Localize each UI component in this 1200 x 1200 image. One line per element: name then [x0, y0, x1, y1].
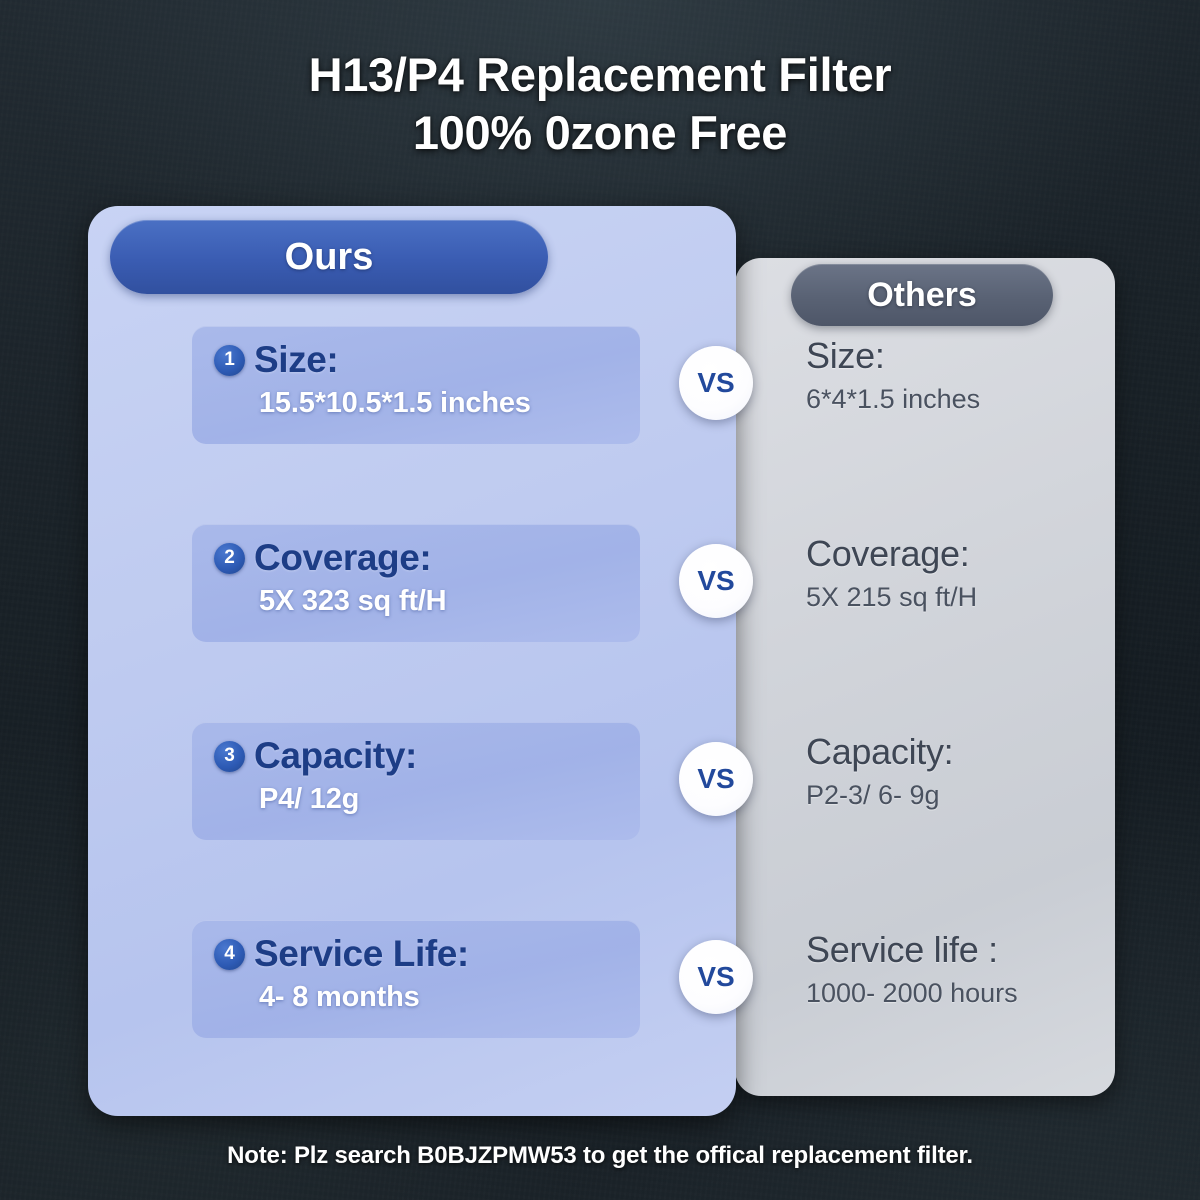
others-value: 6*4*1.5 inches — [806, 381, 1106, 417]
ours-value: 5X 323 sq ft/H — [259, 585, 640, 618]
vs-badge-icon: VS — [679, 940, 753, 1014]
others-value: P2-3/ 6- 9g — [806, 777, 1106, 813]
comparison-row: 1 Size: 15.5*10.5*1.5 inches VS Size: 6*… — [0, 326, 1200, 444]
others-label: Capacity: — [806, 730, 1106, 774]
others-value: 1000- 2000 hours — [806, 975, 1106, 1011]
ours-value: 15.5*10.5*1.5 inches — [259, 387, 640, 420]
ours-cell: 4 Service Life: 4- 8 months — [192, 920, 640, 1038]
ours-value: P4/ 12g — [259, 783, 640, 816]
ours-header-pill: Ours — [110, 220, 548, 294]
ours-label: Capacity: — [254, 735, 417, 777]
title-line-1: H13/P4 Replacement Filter — [0, 46, 1200, 104]
others-cell: Size: 6*4*1.5 inches — [806, 326, 1106, 417]
others-header-pill: Others — [791, 264, 1053, 326]
vs-badge-icon: VS — [679, 346, 753, 420]
others-value: 5X 215 sq ft/H — [806, 579, 1106, 615]
ours-label: Size: — [254, 339, 338, 381]
comparison-row: 3 Capacity: P4/ 12g VS Capacity: P2-3/ 6… — [0, 722, 1200, 840]
others-cell: Service life : 1000- 2000 hours — [806, 920, 1106, 1011]
others-cell: Coverage: 5X 215 sq ft/H — [806, 524, 1106, 615]
row-number-badge: 3 — [214, 741, 245, 772]
comparison-row: 4 Service Life: 4- 8 months VS Service l… — [0, 920, 1200, 1038]
ours-value: 4- 8 months — [259, 981, 640, 1014]
vs-badge-icon: VS — [679, 544, 753, 618]
ours-label: Coverage: — [254, 537, 431, 579]
title-line-2: 100% 0zone Free — [0, 104, 1200, 162]
comparison-row: 2 Coverage: 5X 323 sq ft/H VS Coverage: … — [0, 524, 1200, 642]
others-label: Size: — [806, 334, 1106, 378]
others-label: Service life : — [806, 928, 1106, 972]
footer-note: Note: Plz search B0BJZPMW53 to get the o… — [0, 1142, 1200, 1170]
ours-cell: 2 Coverage: 5X 323 sq ft/H — [192, 524, 640, 642]
ours-cell: 1 Size: 15.5*10.5*1.5 inches — [192, 326, 640, 444]
row-number-badge: 1 — [214, 345, 245, 376]
ours-label: Service Life: — [254, 933, 469, 975]
others-label: Coverage: — [806, 532, 1106, 576]
page-title: H13/P4 Replacement Filter 100% 0zone Fre… — [0, 46, 1200, 162]
row-number-badge: 2 — [214, 543, 245, 574]
others-cell: Capacity: P2-3/ 6- 9g — [806, 722, 1106, 813]
ours-cell: 3 Capacity: P4/ 12g — [192, 722, 640, 840]
comparison-area: Ours Others 1 Size: 15.5*10.5*1.5 inches… — [0, 198, 1200, 1128]
row-number-badge: 4 — [214, 939, 245, 970]
vs-badge-icon: VS — [679, 742, 753, 816]
